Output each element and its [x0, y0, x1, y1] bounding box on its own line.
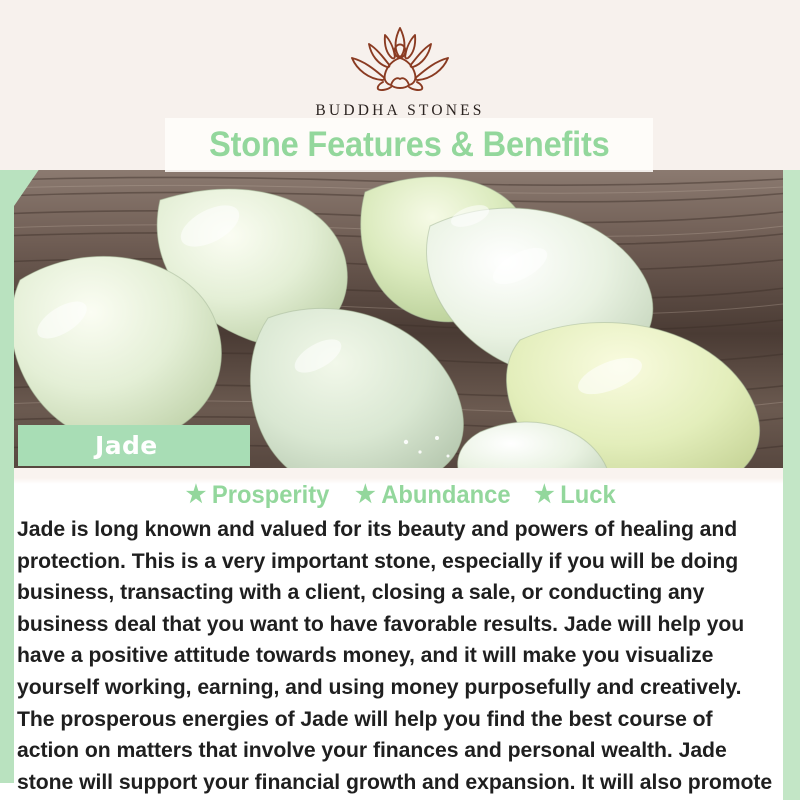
stone-benefits-poster: BUDDHA STONES Stone Features & Benefits …	[0, 0, 800, 800]
stone-name: Jade	[95, 431, 158, 460]
keyword-list: ★ Prosperity ★ Abundance ★ Luck	[0, 480, 800, 510]
lotus-meditation-icon	[335, 22, 465, 96]
brand-logo: BUDDHA STONES	[315, 22, 484, 120]
stone-description: Jade is long known and valued for its be…	[17, 514, 776, 800]
decor-left-bar	[0, 198, 14, 783]
content-section: ★ Prosperity ★ Abundance ★ Luck Jade is …	[0, 468, 800, 800]
title-band: Stone Features & Benefits	[165, 118, 653, 172]
star-icon: ★	[185, 483, 205, 507]
page-title: Stone Features & Benefits	[209, 125, 610, 165]
keyword-luck: ★ Luck	[535, 481, 617, 510]
star-icon: ★	[535, 483, 555, 507]
keyword-abundance: ★ Abundance	[355, 481, 510, 510]
jade-stones-photo	[0, 170, 800, 468]
jade-stones-illustration	[0, 170, 800, 468]
star-icon: ★	[355, 483, 375, 507]
stone-name-band: Jade	[18, 425, 250, 466]
keyword-label: Luck	[561, 481, 616, 510]
keyword-label: Prosperity	[212, 481, 329, 510]
keyword-label: Abundance	[381, 481, 510, 510]
keyword-prosperity: ★ Prosperity	[185, 481, 329, 510]
